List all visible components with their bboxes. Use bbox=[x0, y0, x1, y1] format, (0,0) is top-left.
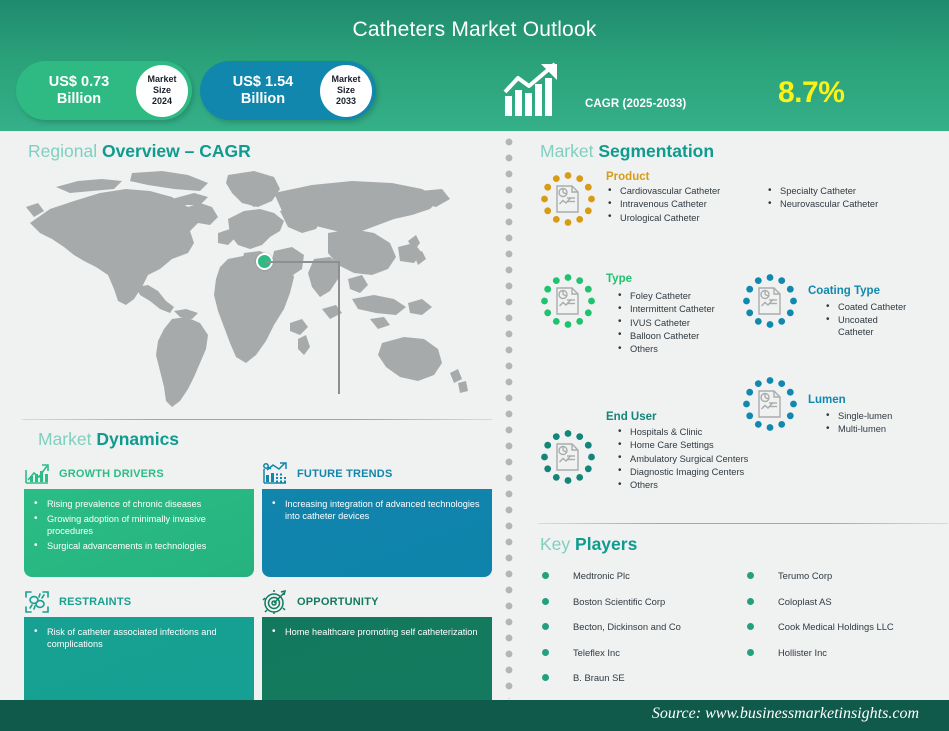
cagr-value: 8.7% bbox=[778, 76, 844, 110]
key-player-name: Boston Scientific Corp bbox=[573, 596, 665, 607]
list-item: Cardiovascular Catheter bbox=[606, 186, 766, 198]
list-item: Foley Catheter bbox=[616, 291, 726, 303]
right-section-divider bbox=[538, 523, 948, 524]
dynamics-card-label: GROWTH DRIVERS bbox=[59, 468, 164, 480]
left-panel: Regional Overview – CAGR bbox=[0, 131, 500, 700]
segmentation-title-light: Market bbox=[540, 141, 598, 161]
segment-group-name: Coating Type bbox=[808, 285, 947, 297]
callout-leader-horizontal bbox=[265, 261, 339, 263]
segment-group-coating-type: Coating Type Coated Catheter Uncoated Ca… bbox=[742, 273, 947, 340]
list-item: Medtronic Plc bbox=[542, 563, 747, 589]
segment-group-name: Lumen bbox=[808, 394, 947, 406]
segment-group-product: Product Cardiovascular Catheter Intraven… bbox=[540, 171, 949, 226]
list-item: Specialty Catheter bbox=[766, 186, 926, 198]
market-dynamics-title: Market Dynamics bbox=[38, 429, 179, 450]
list-item: Single-lumen bbox=[824, 411, 914, 423]
dynamics-card-future-trends: FUTURE TRENDS Increasing integration of … bbox=[262, 459, 492, 577]
key-players-grid: Medtronic Plc Terumo Corp Boston Scienti… bbox=[542, 563, 947, 716]
dynamics-card-restraints: RESTRAINTS Risk of catheter associated i… bbox=[24, 587, 254, 707]
world-map bbox=[22, 163, 492, 418]
dynamics-card-body: Risk of catheter associated infections a… bbox=[24, 617, 254, 707]
dynamics-title-bold: Dynamics bbox=[96, 429, 179, 449]
dynamics-card-header: FUTURE TRENDS bbox=[262, 459, 492, 489]
market-size-2024-amount: US$ 0.73 bbox=[49, 74, 109, 90]
list-item: Growing adoption of minimally invasive p… bbox=[34, 514, 242, 537]
market-size-2033-amount: US$ 1.54 bbox=[233, 74, 293, 90]
dynamics-card-label: OPPORTUNITY bbox=[297, 596, 379, 608]
market-dynamics-grid: GROWTH DRIVERS Rising prevalence of chro… bbox=[24, 459, 492, 707]
list-item: Rising prevalence of chronic diseases bbox=[34, 499, 242, 511]
badge-line-market: Market bbox=[147, 74, 176, 85]
chain-link-restraint-icon bbox=[24, 589, 50, 615]
list-item: Hollister Inc bbox=[747, 640, 947, 666]
key-players-title-light: Key bbox=[540, 534, 575, 554]
bullet-dot-icon bbox=[542, 572, 549, 579]
list-item: Multi-lumen bbox=[824, 424, 914, 436]
dynamics-card-list: Home healthcare promoting self catheteri… bbox=[272, 627, 480, 639]
list-item: Increasing integration of advanced techn… bbox=[272, 499, 480, 522]
page-title: Catheters Market Outlook bbox=[0, 18, 949, 42]
bullet-dot-icon bbox=[542, 674, 549, 681]
dynamics-card-header: RESTRAINTS bbox=[24, 587, 254, 617]
market-size-2024-badge: Market Size 2024 bbox=[136, 65, 188, 117]
dynamics-card-list: Risk of catheter associated infections a… bbox=[34, 627, 242, 650]
key-player-name: B. Braun SE bbox=[573, 672, 625, 683]
regional-overview-title: Regional Overview – CAGR bbox=[28, 141, 251, 162]
list-item: Diagnostic Imaging Centers bbox=[616, 467, 766, 479]
badge-line-year: 2033 bbox=[336, 96, 356, 107]
segmentation-title-bold: Segmentation bbox=[598, 141, 714, 161]
dynamics-card-list: Increasing integration of advanced techn… bbox=[272, 499, 480, 522]
market-segmentation-title: Market Segmentation bbox=[540, 141, 714, 162]
bullet-dot-icon bbox=[542, 649, 549, 656]
list-item: Home Care Settings bbox=[616, 440, 766, 452]
market-size-2024-pill: US$ 0.73 Billion Market Size 2024 bbox=[16, 61, 192, 120]
bullet-dot-icon bbox=[747, 598, 754, 605]
segment-list-col1: Hospitals & Clinic Home Care Settings Am… bbox=[616, 427, 766, 492]
target-dart-icon bbox=[262, 589, 288, 615]
bullet-dot-icon bbox=[747, 572, 754, 579]
list-item: Risk of catheter associated infections a… bbox=[34, 627, 242, 650]
segment-group-name: Type bbox=[606, 273, 740, 285]
market-size-2033-badge: Market Size 2033 bbox=[320, 65, 372, 117]
dynamics-card-body: Increasing integration of advanced techn… bbox=[262, 489, 492, 577]
regional-title-bold: Overview – CAGR bbox=[102, 141, 251, 161]
bullet-dot-icon bbox=[747, 649, 754, 656]
dynamics-title-light: Market bbox=[38, 429, 96, 449]
segment-list-col1: Foley Catheter Intermittent Catheter IVU… bbox=[616, 291, 726, 356]
key-player-name: Medtronic Plc bbox=[573, 570, 630, 581]
dynamics-card-label: RESTRAINTS bbox=[59, 596, 131, 608]
bar-chart-growth-icon bbox=[24, 461, 50, 487]
right-panel: Market Segmentation bbox=[512, 131, 949, 700]
report-document-icon bbox=[742, 273, 798, 329]
market-size-2033-unit: Billion bbox=[241, 91, 285, 107]
list-item: Ambulatory Surgical Centers bbox=[616, 454, 766, 466]
dynamics-card-label: FUTURE TRENDS bbox=[297, 468, 393, 480]
key-player-name: Teleflex Inc bbox=[573, 647, 620, 658]
report-document-icon bbox=[540, 171, 596, 227]
list-item: B. Braun SE bbox=[542, 665, 747, 691]
infographic-page: Catheters Market Outlook US$ 0.73 Billio… bbox=[0, 0, 949, 731]
badge-line-year: 2024 bbox=[152, 96, 172, 107]
source-attribution: Source: www.businessmarketinsights.com bbox=[652, 705, 919, 723]
segment-group-lumen: Lumen Single-lumen Multi-lumen bbox=[742, 376, 947, 438]
dynamics-card-opportunity: OPPORTUNITY Home healthcare promoting se… bbox=[262, 587, 492, 707]
list-item: Coated Catheter bbox=[824, 302, 914, 314]
market-size-2024-unit: Billion bbox=[57, 91, 101, 107]
dynamics-card-body: Home healthcare promoting self catheteri… bbox=[262, 617, 492, 707]
list-item: Coloplast AS bbox=[747, 589, 947, 615]
badge-line-size: Size bbox=[337, 85, 355, 96]
key-player-name: Terumo Corp bbox=[778, 570, 832, 581]
key-players-title: Key Players bbox=[540, 534, 637, 555]
key-players-title-bold: Players bbox=[575, 534, 637, 554]
list-item: Others bbox=[616, 480, 766, 492]
key-player-name: Becton, Dickinson and Co bbox=[573, 621, 681, 632]
list-item: IVUS Catheter bbox=[616, 318, 726, 330]
growth-chart-arrow-icon bbox=[503, 62, 565, 118]
bullet-dot-icon bbox=[542, 623, 549, 630]
dynamics-card-header: GROWTH DRIVERS bbox=[24, 459, 254, 489]
segment-group-end-user: End User Hospitals & Clinic Home Care Se… bbox=[540, 411, 760, 493]
header-banner: Catheters Market Outlook US$ 0.73 Billio… bbox=[0, 0, 949, 131]
segment-list-col1: Cardiovascular Catheter Intravenous Cath… bbox=[606, 186, 766, 226]
list-item: Neurovascular Catheter bbox=[766, 199, 926, 211]
badge-line-size: Size bbox=[153, 85, 171, 96]
segment-list-col2: Specialty Catheter Neurovascular Cathete… bbox=[766, 186, 926, 226]
segment-group-name: End User bbox=[606, 411, 760, 423]
segment-group-name: Product bbox=[606, 171, 949, 183]
key-player-name: Coloplast AS bbox=[778, 596, 832, 607]
list-item: Uncoated Catheter bbox=[824, 315, 914, 339]
report-document-icon bbox=[540, 429, 596, 485]
bullet-dot-icon bbox=[542, 598, 549, 605]
market-size-2033-value: US$ 1.54 Billion bbox=[200, 74, 320, 108]
callout-leader-vertical bbox=[338, 261, 340, 394]
list-item: Terumo Corp bbox=[747, 563, 947, 589]
list-item: Balloon Catheter bbox=[616, 331, 726, 343]
key-player-name: Hollister Inc bbox=[778, 647, 827, 658]
cagr-label: CAGR (2025-2033) bbox=[585, 98, 686, 110]
list-item: Surgical advancements in technologies bbox=[34, 541, 242, 553]
dynamics-card-body: Rising prevalence of chronic diseases Gr… bbox=[24, 489, 254, 577]
segment-group-type: Type Foley Catheter Intermittent Cathete… bbox=[540, 273, 740, 357]
report-document-icon bbox=[540, 273, 596, 329]
list-item-empty bbox=[747, 665, 947, 691]
list-item: Urological Catheter bbox=[606, 213, 766, 225]
list-item: Becton, Dickinson and Co bbox=[542, 614, 747, 640]
world-map-svg bbox=[22, 163, 492, 418]
dynamics-card-header: OPPORTUNITY bbox=[262, 587, 492, 617]
key-player-name: Cook Medical Holdings LLC bbox=[778, 621, 894, 632]
segment-list-col1: Single-lumen Multi-lumen bbox=[824, 411, 914, 436]
left-section-divider bbox=[22, 419, 492, 420]
list-item: Intravenous Catheter bbox=[606, 199, 766, 211]
dynamics-card-list: Rising prevalence of chronic diseases Gr… bbox=[34, 499, 242, 552]
list-item: Home healthcare promoting self catheteri… bbox=[272, 627, 480, 639]
segment-list-col1: Coated Catheter Uncoated Catheter bbox=[824, 302, 914, 339]
bullet-dot-icon bbox=[747, 623, 754, 630]
badge-line-market: Market bbox=[331, 74, 360, 85]
list-item: Cook Medical Holdings LLC bbox=[747, 614, 947, 640]
list-item: Hospitals & Clinic bbox=[616, 427, 766, 439]
dynamics-card-growth-drivers: GROWTH DRIVERS Rising prevalence of chro… bbox=[24, 459, 254, 577]
list-item: Boston Scientific Corp bbox=[542, 589, 747, 615]
market-size-2024-value: US$ 0.73 Billion bbox=[16, 74, 136, 108]
regional-title-light: Regional bbox=[28, 141, 102, 161]
market-size-2033-pill: US$ 1.54 Billion Market Size 2033 bbox=[200, 61, 376, 120]
list-item: Teleflex Inc bbox=[542, 640, 747, 666]
trend-forecast-icon bbox=[262, 461, 288, 487]
list-item: Others bbox=[616, 344, 726, 356]
list-item: Intermittent Catheter bbox=[616, 304, 726, 316]
footer-bar: Source: www.businessmarketinsights.com bbox=[0, 700, 949, 731]
